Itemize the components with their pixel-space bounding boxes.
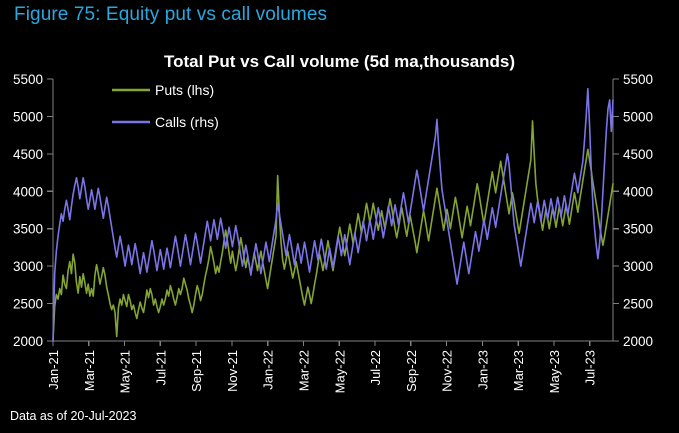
- x-tick-label-Jul-22: Jul-22: [368, 350, 383, 385]
- right-tick-label-4000: 4000: [623, 184, 653, 199]
- x-tick-label-Jan-22: Jan-22: [261, 350, 276, 390]
- data-as-of-note: Data as of 20-Jul-2023: [10, 409, 136, 423]
- chart-legend: Puts (lhs)Calls (rhs): [112, 82, 219, 130]
- x-tick-label-Mar-21: Mar-21: [82, 350, 97, 391]
- series-line-puts-lhs: [53, 121, 613, 341]
- x-tick-label-Mar-22: Mar-22: [296, 350, 311, 391]
- right-tick-label-5500: 5500: [623, 72, 653, 87]
- put-call-volume-line-chart: 20002500300035004000450050005500 2000250…: [0, 0, 679, 433]
- x-tick-label-Sep-21: Sep-21: [189, 350, 204, 392]
- x-tick-label-May-21: May-21: [118, 350, 133, 393]
- left-tick-label-2000: 2000: [13, 334, 43, 349]
- left-tick-label-2500: 2500: [13, 297, 43, 312]
- x-tick-label-Sep-22: Sep-22: [404, 350, 419, 392]
- right-axis-ticks: 20002500300035004000450050005500: [613, 72, 653, 349]
- x-tick-label-Jan-23: Jan-23: [475, 350, 490, 390]
- right-tick-label-4500: 4500: [623, 147, 653, 162]
- right-tick-label-5000: 5000: [623, 109, 653, 124]
- left-tick-label-5000: 5000: [13, 109, 43, 124]
- x-tick-label-Jul-21: Jul-21: [153, 350, 168, 385]
- x-tick-label-Nov-21: Nov-21: [225, 350, 240, 392]
- x-tick-label-May-22: May-22: [332, 350, 347, 393]
- left-tick-label-4000: 4000: [13, 184, 43, 199]
- left-tick-label-4500: 4500: [13, 147, 43, 162]
- x-tick-label-Mar-23: Mar-23: [511, 350, 526, 391]
- chart-series-group: [53, 89, 613, 341]
- x-tick-label-Jan-21: Jan-21: [46, 350, 61, 390]
- x-tick-label-Nov-22: Nov-22: [440, 350, 455, 392]
- figure-container: Figure 75: Equity put vs call volumes To…: [0, 0, 679, 433]
- legend-label-1: Calls (rhs): [155, 114, 219, 130]
- right-tick-label-2000: 2000: [623, 334, 653, 349]
- left-tick-label-3500: 3500: [13, 222, 43, 237]
- right-tick-label-3000: 3000: [623, 259, 653, 274]
- x-axis-ticks: Jan-21Mar-21May-21Jul-21Sep-21Nov-21Jan-…: [46, 341, 598, 393]
- legend-label-0: Puts (lhs): [155, 82, 214, 98]
- right-tick-label-2500: 2500: [623, 297, 653, 312]
- x-tick-label-May-23: May-23: [547, 350, 562, 393]
- left-tick-label-5500: 5500: [13, 72, 43, 87]
- x-tick-label-Jul-23: Jul-23: [583, 350, 598, 385]
- left-tick-label-3000: 3000: [13, 259, 43, 274]
- series-line-calls-rhs: [53, 89, 613, 341]
- left-axis-ticks: 20002500300035004000450050005500: [13, 72, 53, 349]
- right-tick-label-3500: 3500: [623, 222, 653, 237]
